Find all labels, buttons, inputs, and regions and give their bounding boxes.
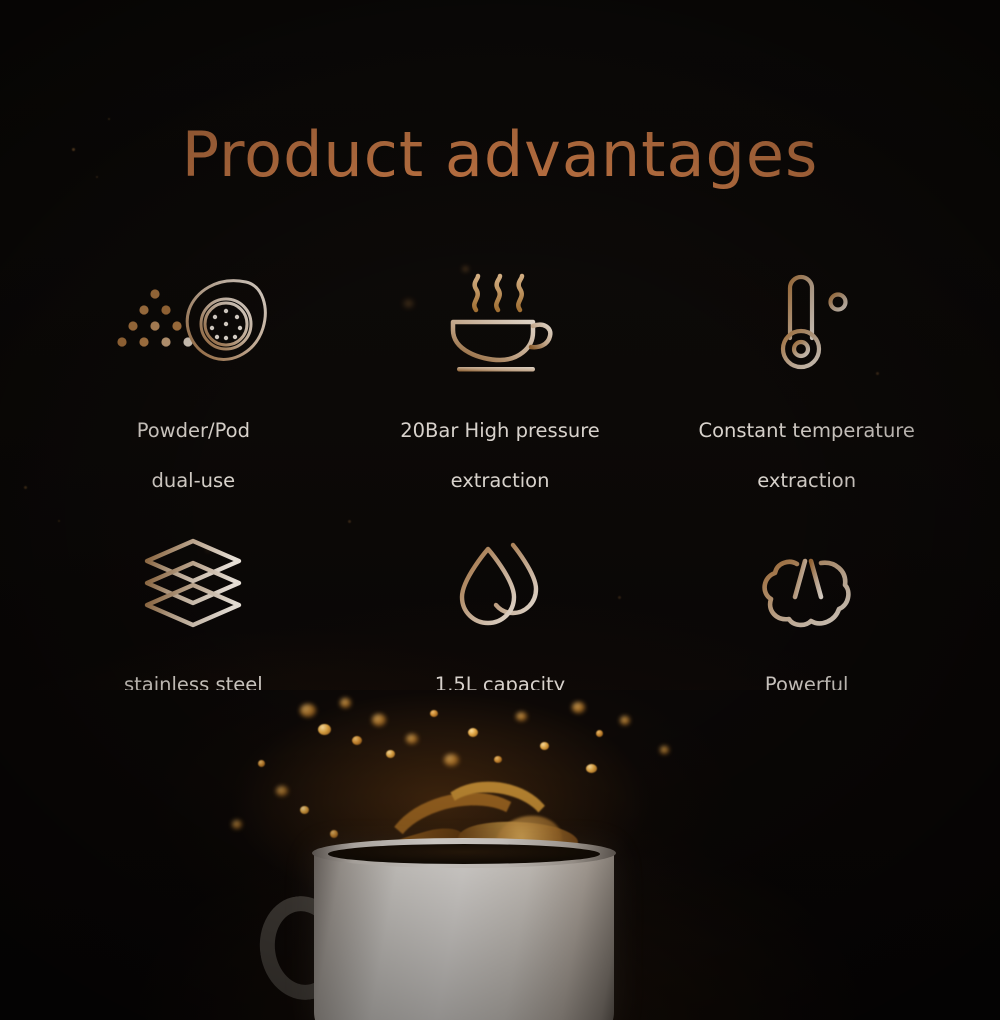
steam-burst-icon [755, 529, 859, 637]
powder-dots [118, 289, 193, 346]
white-mug [262, 760, 666, 1020]
pod-shape [188, 281, 266, 360]
feature-label: 20Bar High pressure extraction [400, 393, 600, 493]
page-title: Product advantages [0, 118, 1000, 191]
stacked-layers-icon [139, 529, 247, 637]
mug-body [314, 848, 614, 1020]
layer-diamonds [147, 541, 239, 625]
features-grid: Powder/Pod dual-use [40, 265, 960, 747]
mug-interior [328, 844, 600, 864]
feature-label-line2: extraction [451, 469, 550, 492]
feature-high-pressure[interactable]: 20Bar High pressure extraction [347, 265, 654, 493]
pod-holes [210, 309, 242, 340]
feature-powder-pod[interactable]: Powder/Pod dual-use [40, 265, 347, 493]
coffee-powder-and-pod-icon [113, 265, 273, 383]
feature-label: Constant temperature extraction [698, 393, 914, 493]
coffee-cup-steam-icon [440, 265, 560, 383]
steam-rays [795, 561, 821, 607]
product-advantages-page: Product advantages [0, 0, 1000, 1020]
coffee-splash-photo [0, 690, 1000, 1020]
feature-label-line1: Constant temperature [698, 419, 914, 442]
feature-label: Powder/Pod dual-use [137, 393, 250, 493]
feature-label-line2: dual-use [152, 469, 236, 492]
cup-body [453, 322, 550, 360]
features-row-1: Powder/Pod dual-use [40, 265, 960, 493]
feature-label-line2: extraction [757, 469, 856, 492]
feature-constant-temperature[interactable]: Constant temperature extraction [653, 265, 960, 493]
thermometer-shape [783, 277, 846, 367]
steam-wisps [474, 276, 522, 310]
feature-label-line1: 20Bar High pressure [400, 419, 600, 442]
thermometer-icon [757, 265, 857, 383]
water-droplets-icon [450, 529, 550, 637]
feature-label-line1: Powder/Pod [137, 419, 250, 442]
cup-saucer [457, 367, 535, 372]
droplet-shapes [462, 545, 536, 623]
